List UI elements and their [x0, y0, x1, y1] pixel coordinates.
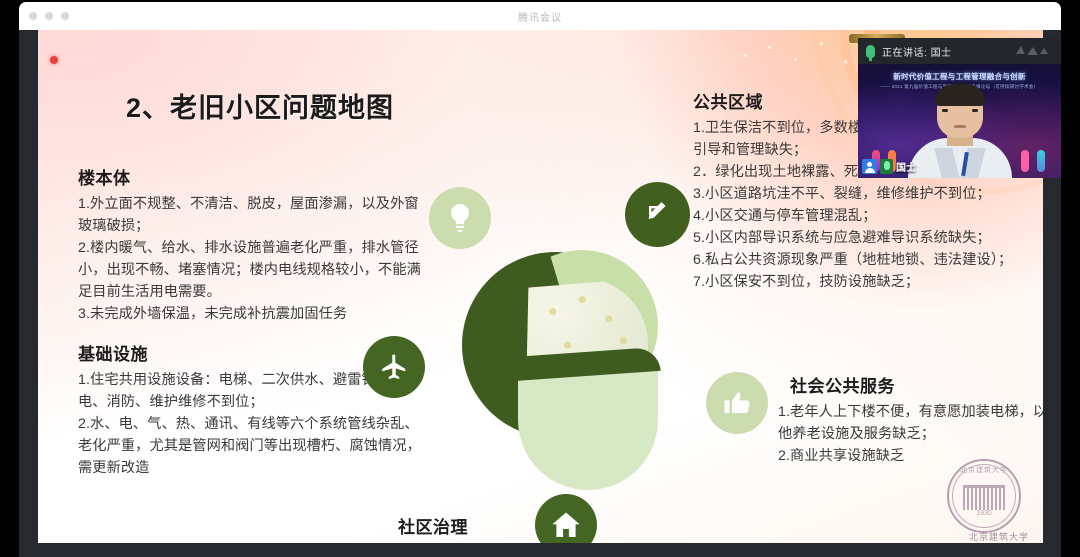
- seal-building-icon: [963, 485, 1005, 510]
- avatar: [862, 159, 877, 174]
- window-titlebar: 腾讯会议: [19, 2, 1061, 30]
- minimize-icon[interactable]: [45, 12, 53, 20]
- audio-wave-icon: [1015, 44, 1049, 58]
- microphone-icon: [866, 45, 875, 58]
- block-building: 楼本体 1.外立面不规整、不清洁、脱皮，屋面渗漏，以及外窗玻璃破损； 2.楼内暖…: [78, 164, 428, 325]
- record-dot-icon: [50, 56, 58, 64]
- decorative-confetti-icon: [1021, 150, 1029, 172]
- window-controls[interactable]: [29, 2, 69, 30]
- window-title: 腾讯会议: [518, 9, 562, 24]
- mic-active-icon[interactable]: [880, 159, 893, 174]
- pen-icon: [625, 182, 690, 247]
- decorative-confetti-icon: [1037, 150, 1045, 172]
- seal-year: 1930: [947, 510, 1021, 517]
- tencent-meeting-window: 腾讯会议: [19, 2, 1061, 557]
- meeting-content-area: 录制中 2、老旧小区问题地图 楼本体 1.外立面不规整、不清洁、脱皮，屋面渗漏，…: [19, 30, 1061, 557]
- airplane-icon: [363, 336, 425, 398]
- slide-title: 2、老旧小区问题地图: [126, 86, 394, 125]
- desktop-background: 腾讯会议: [0, 0, 1080, 557]
- sphere-illustration: [462, 242, 658, 494]
- participant-name: 国士: [896, 159, 916, 174]
- home-icon: [535, 494, 597, 543]
- speaking-status-bar: 正在讲话: 国士: [858, 38, 1061, 64]
- university-seal-logo: 北京建筑大学 1930: [947, 459, 1021, 533]
- block-social-service-body: 1.老年人上下楼不便，有意愿加装电梯，以及其他养老设施及服务缺乏； 2.商业共享…: [778, 401, 1043, 467]
- block-social-service-heading: 社会公共服务: [790, 372, 1043, 397]
- close-icon[interactable]: [29, 12, 37, 20]
- maximize-icon[interactable]: [61, 12, 69, 20]
- speaking-status-label: 正在讲话: 国士: [882, 44, 952, 59]
- speaker-video-tile[interactable]: 正在讲话: 国士 新时代价值工程与工程管理融合与创新 —— 2021 第九届价值…: [858, 38, 1061, 178]
- lightbulb-icon: [429, 187, 491, 249]
- presentation-title: 新时代价值工程与工程管理融合与创新: [858, 71, 1061, 82]
- recording-indicator: 录制中: [50, 52, 97, 67]
- seal-caption: 北京建筑大学: [969, 530, 1029, 543]
- block-social-service: 社会公共服务 1.老年人上下楼不便，有意愿加装电梯，以及其他养老设施及服务缺乏；…: [778, 372, 1043, 467]
- block-building-body: 1.外立面不规整、不清洁、脱皮，屋面渗漏，以及外窗玻璃破损； 2.楼内暖气、给水…: [78, 193, 428, 325]
- left-gutter: [19, 30, 38, 557]
- block-governance-body: 1.多数小区无业主大会和无业委会，或未能有效发挥作用； 2.缺少社区文化；: [338, 542, 898, 543]
- block-building-heading: 楼本体: [78, 164, 428, 189]
- block-governance: 社区治理 1.多数小区无业主大会和无业委会，或未能有效发挥作用； 2.缺少社区文…: [338, 513, 898, 543]
- participant-name-bar: 国士: [862, 159, 916, 174]
- block-governance-heading: 社区治理: [398, 513, 898, 538]
- thumbs-up-icon: [706, 372, 768, 434]
- sphere-bowl: [518, 360, 658, 490]
- video-feed[interactable]: 新时代价值工程与工程管理融合与创新 —— 2021 第九届价值工程与项目管理创新…: [858, 64, 1061, 178]
- seal-top-text: 北京建筑大学: [947, 465, 1021, 475]
- recording-label: 录制中: [64, 52, 97, 67]
- speaker-portrait: [906, 98, 1014, 178]
